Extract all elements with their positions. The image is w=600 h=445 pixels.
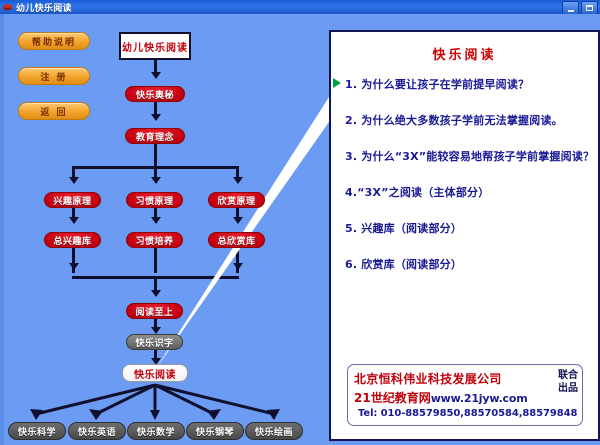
connector-arrow	[151, 72, 161, 79]
site-name: 21世纪教育网	[354, 391, 431, 405]
app-book-icon	[2, 2, 13, 12]
node-happy-literacy[interactable]: 快乐识字	[126, 334, 183, 350]
list-item[interactable]: 5. 兴趣库（阅读部分）	[345, 220, 595, 236]
node-appreciation-principle[interactable]: 欣赏原理	[208, 192, 265, 208]
workspace: 帮助说明 注 册 返 回	[0, 14, 600, 445]
company-name: 北京恒科伟业科技发展公司	[354, 370, 502, 387]
help-button[interactable]: 帮助说明	[18, 32, 90, 50]
connector-arrow	[151, 327, 161, 334]
list-item-label: 5. 兴趣库（阅读部分）	[345, 222, 462, 235]
connector-arrow	[233, 177, 243, 184]
content-panel: 快乐阅读 1. 为什么要让孩子在学前提早阅读？ 2. 为什么绝大多数孩子学前无法…	[329, 30, 600, 441]
node-habit-training[interactable]: 习惯培养	[126, 232, 183, 248]
joint-line-2: 出品	[558, 382, 578, 395]
node-subject-math[interactable]: 快乐数学	[127, 422, 185, 440]
connector-arrow	[69, 217, 79, 224]
joint-line-1: 联合	[558, 369, 578, 382]
connector-arrow	[151, 290, 161, 297]
list-item[interactable]: 4.“3X”之阅读（主体部分）	[345, 184, 595, 200]
window-title: 幼儿快乐阅读	[16, 1, 72, 14]
node-subject-piano[interactable]: 快乐钢琴	[186, 422, 244, 440]
minimize-button[interactable]	[562, 1, 579, 15]
selection-marker-icon	[333, 78, 341, 88]
connector	[154, 144, 157, 168]
topic-list: 1. 为什么要让孩子在学前提早阅读？ 2. 为什么绝大多数孩子学前无法掌握阅读。…	[345, 76, 595, 292]
application-window: 幼儿快乐阅读 帮助说明 注 册 返 回	[0, 0, 600, 445]
site-line: 21世纪教育网www.21jyw.com	[354, 389, 528, 406]
connector-arrow	[233, 217, 243, 224]
node-habit-principle[interactable]: 习惯原理	[126, 192, 183, 208]
title-bar: 幼儿快乐阅读	[0, 0, 600, 14]
node-appreciation-library[interactable]: 总欣赏库	[208, 232, 265, 248]
maximize-button[interactable]	[581, 1, 598, 15]
joint-production-label: 联合 出品	[558, 369, 578, 395]
telephone: Tel: 010-88579850,88570584,88579848	[358, 408, 577, 419]
list-item-label: 3. 为什么“3X”能较容易地帮孩子学前掌握阅读？	[345, 150, 594, 163]
connector-arrow	[233, 263, 243, 270]
list-item-label: 1. 为什么要让孩子在学前提早阅读？	[345, 78, 529, 91]
node-interest-principle[interactable]: 兴趣原理	[44, 192, 101, 208]
list-item-label: 6. 欣赏库（阅读部分）	[345, 258, 462, 271]
connector-arrow	[151, 177, 161, 184]
node-reading-first[interactable]: 阅读至上	[126, 303, 183, 319]
node-education-concept[interactable]: 教育理念	[125, 128, 185, 144]
list-item[interactable]: 2. 为什么绝大多数孩子学前无法掌握阅读。	[345, 112, 595, 128]
list-item[interactable]: 1. 为什么要让孩子在学前提早阅读？	[345, 76, 595, 92]
back-button[interactable]: 返 回	[18, 102, 90, 120]
panel-title: 快乐阅读	[331, 44, 598, 63]
node-happy-reading-selected[interactable]: 快乐阅读	[122, 364, 188, 382]
connector-arrow	[151, 114, 161, 121]
connector-arrow	[69, 263, 79, 270]
connector-arrow	[69, 177, 79, 184]
connector	[154, 248, 157, 273]
window-controls	[562, 1, 598, 15]
node-subject-science[interactable]: 快乐科学	[8, 422, 66, 440]
node-happy-secret[interactable]: 快乐奥秘	[125, 86, 185, 102]
list-item[interactable]: 3. 为什么“3X”能较容易地帮孩子学前掌握阅读？	[345, 148, 595, 164]
site-url[interactable]: www.21jyw.com	[431, 392, 528, 405]
node-root[interactable]: 幼儿快乐阅读	[119, 32, 191, 60]
node-subject-english[interactable]: 快乐英语	[68, 422, 126, 440]
list-item-label: 2. 为什么绝大多数孩子学前无法掌握阅读。	[345, 114, 563, 127]
connector-arrow	[151, 217, 161, 224]
register-button[interactable]: 注 册	[18, 67, 90, 85]
company-footer: 北京恒科伟业科技发展公司 21世纪教育网www.21jyw.com 联合 出品 …	[347, 364, 583, 426]
list-item-label: 4.“3X”之阅读（主体部分）	[345, 186, 489, 199]
list-item[interactable]: 6. 欣赏库（阅读部分）	[345, 256, 595, 272]
node-interest-library[interactable]: 总兴趣库	[44, 232, 101, 248]
node-subject-painting[interactable]: 快乐绘画	[245, 422, 303, 440]
